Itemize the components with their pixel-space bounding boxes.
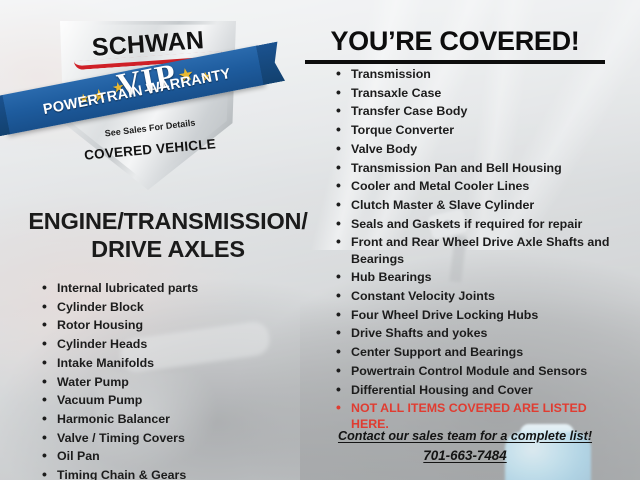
list-item: Clutch Master & Slave Cylinder <box>335 197 627 213</box>
list-item-disclaimer: NOT ALL ITEMS COVERED ARE LISTED HERE. <box>335 400 627 432</box>
list-item: Transfer Case Body <box>335 103 627 119</box>
covered-items-list-right: TransmissionTransaxle CaseTransfer Case … <box>335 66 627 435</box>
list-item: Center Support and Bearings <box>335 344 627 360</box>
list-item: Transmission <box>335 66 627 82</box>
contact-phone-number[interactable]: 701-663-7484 <box>300 448 630 463</box>
list-item: Oil Pan <box>41 448 301 464</box>
covered-items-list-left: Internal lubricated partsCylinder BlockR… <box>41 280 301 480</box>
list-item: Front and Rear Wheel Drive Axle Shafts a… <box>335 234 627 266</box>
list-item: Differential Housing and Cover <box>335 382 627 398</box>
warranty-badge-logo: SCHWAN ★ ★ ★ ★ ★ VIP POWERTRAIN WARRANTY… <box>16 8 250 196</box>
list-item: Cylinder Heads <box>41 336 301 352</box>
list-item: Timing Chain & Gears <box>41 467 301 480</box>
list-item: Constant Velocity Joints <box>335 288 627 304</box>
contact-footer: Contact our sales team for a complete li… <box>300 429 630 463</box>
list-item: Cooler and Metal Cooler Lines <box>335 178 627 194</box>
list-item: Cylinder Block <box>41 299 301 315</box>
list-item: Rotor Housing <box>41 317 301 333</box>
list-item: Torque Converter <box>335 122 627 138</box>
list-item: Valve / Timing Covers <box>41 430 301 446</box>
right-section-heading: YOU’RE COVERED! <box>305 26 605 67</box>
heading-underline <box>305 60 605 64</box>
list-item: Four Wheel Drive Locking Hubs <box>335 307 627 323</box>
list-item: Internal lubricated parts <box>41 280 301 296</box>
list-item: Vacuum Pump <box>41 392 301 408</box>
list-item: Powertrain Control Module and Sensors <box>335 363 627 379</box>
list-item: Hub Bearings <box>335 269 627 285</box>
list-item: Drive Shafts and yokes <box>335 325 627 341</box>
list-item: Seals and Gaskets if required for repair <box>335 216 627 232</box>
list-item: Transmission Pan and Bell Housing <box>335 160 627 176</box>
contact-call-to-action: Contact our sales team for a complete li… <box>300 429 630 443</box>
list-item: Valve Body <box>335 141 627 157</box>
right-heading-text: YOU’RE COVERED! <box>330 26 579 56</box>
list-item: Intake Manifolds <box>41 355 301 371</box>
list-item: Transaxle Case <box>335 85 627 101</box>
list-item: Water Pump <box>41 374 301 390</box>
list-item: Harmonic Balancer <box>41 411 301 427</box>
left-section-heading: ENGINE/TRANSMISSION/ DRIVE AXLES <box>8 208 328 263</box>
